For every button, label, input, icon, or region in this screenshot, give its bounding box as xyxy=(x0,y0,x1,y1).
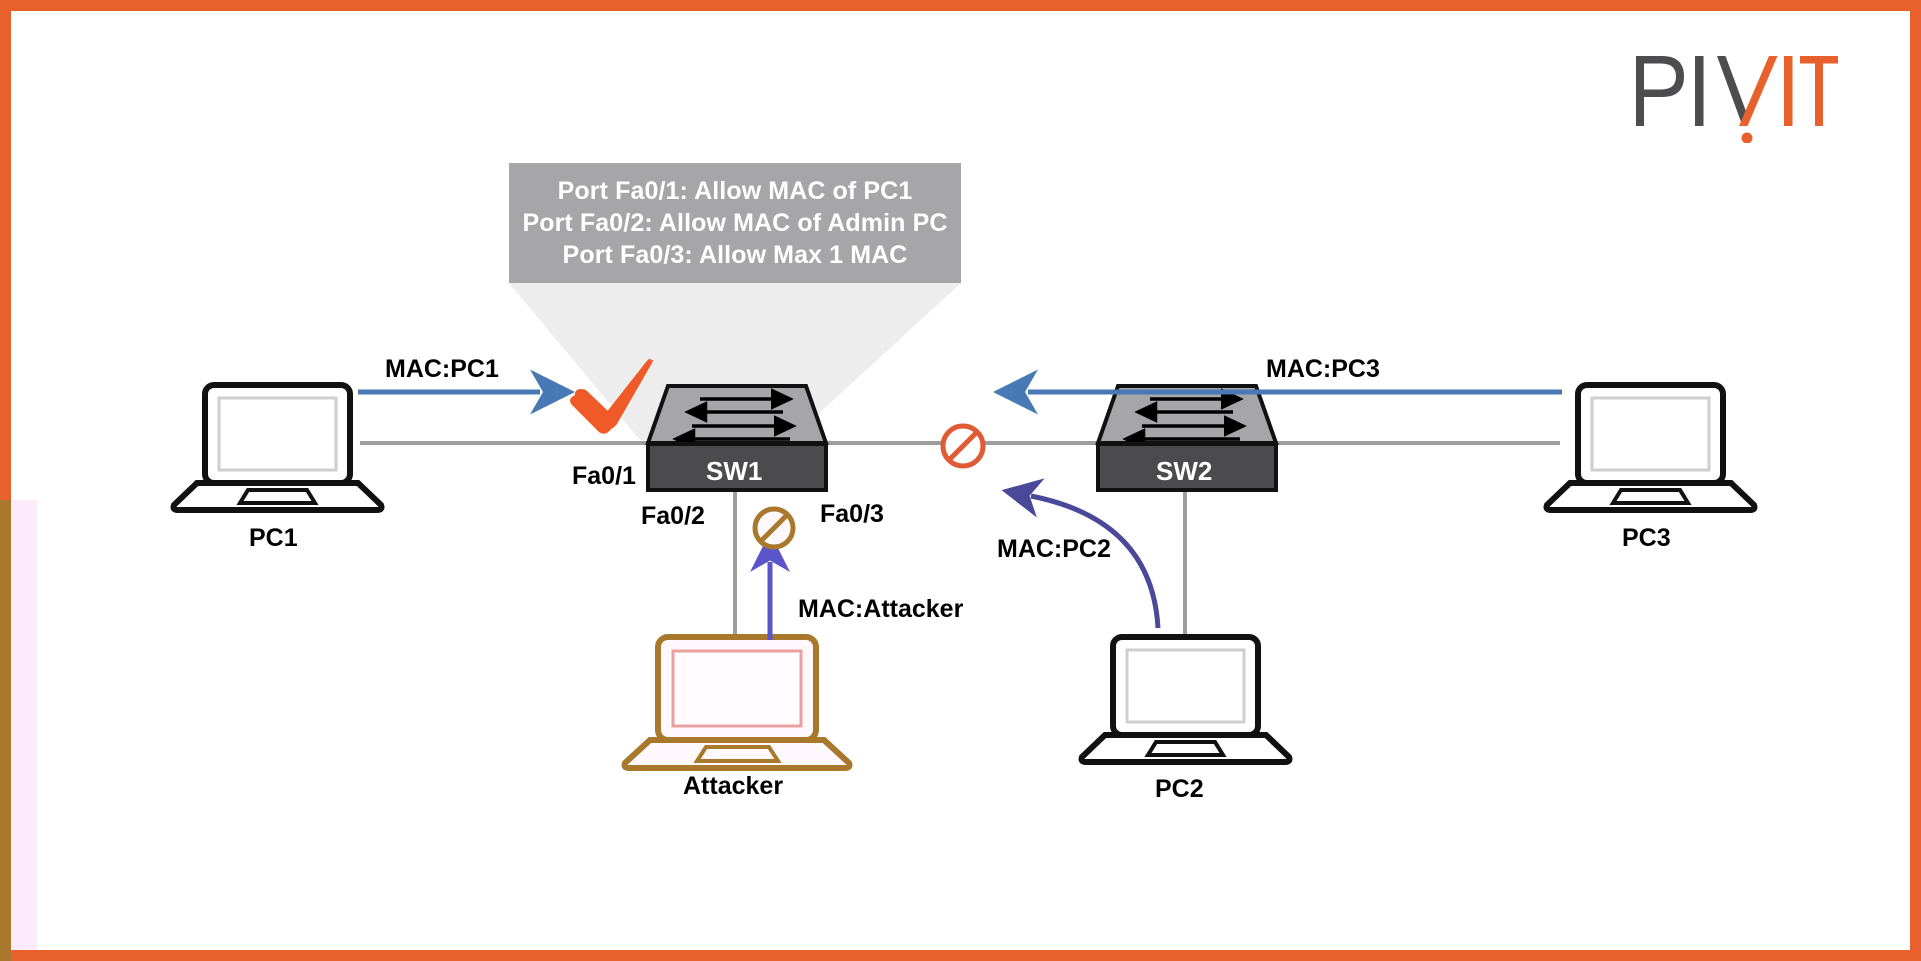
mac-pc3-label: MAC:PC3 xyxy=(1266,355,1380,384)
mac-pc2-label: MAC:PC2 xyxy=(997,535,1111,564)
network-topology-svg xyxy=(0,0,1921,961)
port-fa02-label: Fa0/2 xyxy=(641,502,705,531)
sw1-label: SW1 xyxy=(706,456,762,487)
left-edge-tint xyxy=(11,500,37,961)
sw2-label: SW2 xyxy=(1156,456,1212,487)
mac-pc1-label: MAC:PC1 xyxy=(385,355,499,384)
pc2-laptop-icon xyxy=(1082,637,1290,762)
page-border-left-lower xyxy=(0,500,11,961)
port-fa03-label: Fa0/3 xyxy=(820,500,884,529)
attacker-label: Attacker xyxy=(683,772,783,801)
pc1-laptop-icon xyxy=(174,385,382,510)
port-security-callout: Port Fa0/1: Allow MAC of PC1 Port Fa0/2:… xyxy=(509,163,961,283)
diagram-canvas: Port Fa0/1: Allow MAC of PC1 Port Fa0/2:… xyxy=(0,0,1921,961)
pc3-laptop-icon xyxy=(1547,385,1755,510)
pivit-logo xyxy=(1632,48,1842,143)
block-prohibition-icon-fa02 xyxy=(755,509,793,547)
pc3-label: PC3 xyxy=(1622,524,1671,553)
callout-line-3: Port Fa0/3: Allow Max 1 MAC xyxy=(563,239,908,271)
port-fa01-label: Fa0/1 xyxy=(572,462,636,491)
callout-line-1: Port Fa0/1: Allow MAC of PC1 xyxy=(558,175,913,207)
pc1-label: PC1 xyxy=(249,524,298,553)
callout-line-2: Port Fa0/2: Allow MAC of Admin PC xyxy=(522,207,947,239)
attacker-laptop-icon xyxy=(625,637,850,768)
mac-attacker-label: MAC:Attacker xyxy=(798,595,963,624)
pc2-label: PC2 xyxy=(1155,775,1204,804)
block-prohibition-icon-trunk xyxy=(943,426,983,466)
